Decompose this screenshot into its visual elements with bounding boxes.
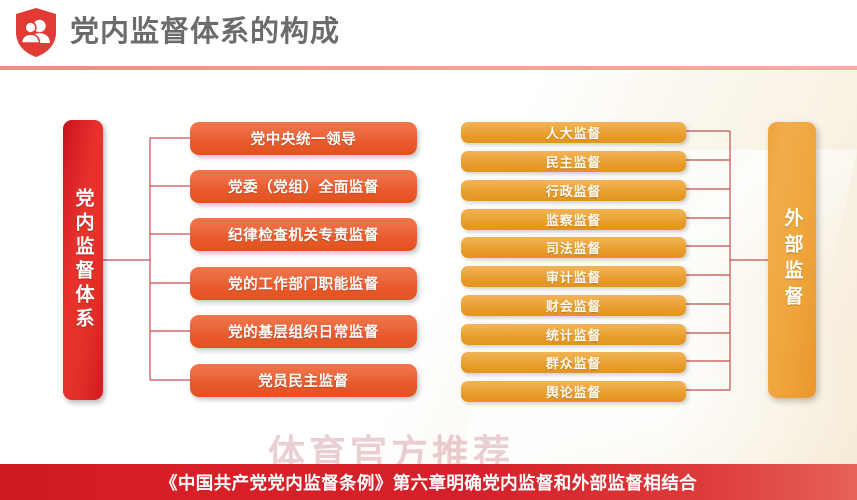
- right-item-3[interactable]: 行政监督: [461, 180, 686, 201]
- right-item-9[interactable]: 群众监督: [461, 352, 686, 373]
- left-item-5[interactable]: 党的基层组织日常监督: [190, 315, 417, 348]
- right-item-6[interactable]: 审计监督: [461, 266, 686, 287]
- right-item-label: 财会监督: [546, 296, 601, 315]
- bottom-banner: 《中国共产党党内监督条例》第六章明确党内监督和外部监督相结合: [0, 464, 857, 500]
- right-item-label: 统计监督: [546, 325, 601, 344]
- left-item-4[interactable]: 党的工作部门职能监督: [190, 267, 417, 300]
- left-item-3[interactable]: 纪律检查机关专责监督: [190, 218, 417, 251]
- left-item-label: 党委（党组）全面监督: [228, 176, 379, 197]
- right-trunk-label: 外部监督: [783, 208, 802, 312]
- right-item-label: 民主监督: [546, 152, 601, 171]
- right-item-label: 司法监督: [546, 238, 601, 257]
- page-title: 党内监督体系的构成: [70, 13, 340, 51]
- right-trunk-external-supervision[interactable]: 外部监督: [768, 122, 816, 398]
- right-item-8[interactable]: 统计监督: [461, 324, 686, 345]
- right-item-10[interactable]: 舆论监督: [461, 381, 686, 402]
- right-item-label: 舆论监督: [546, 382, 601, 401]
- right-item-2[interactable]: 民主监督: [461, 151, 686, 172]
- left-item-label: 党中央统一领导: [251, 128, 357, 149]
- shield-people-icon: [14, 7, 58, 58]
- header-divider: [0, 66, 857, 70]
- right-item-label: 行政监督: [546, 181, 601, 200]
- right-item-5[interactable]: 司法监督: [461, 237, 686, 258]
- left-item-label: 纪律检查机关专责监督: [228, 224, 379, 245]
- left-trunk-inner-supervision[interactable]: 党内监督体系: [63, 120, 103, 400]
- bottom-banner-text: 《中国共产党党内监督条例》第六章明确党内监督和外部监督相结合: [160, 470, 697, 495]
- slide-root: 党内监督体系的构成: [0, 0, 857, 500]
- right-item-label: 监察监督: [546, 210, 601, 229]
- left-trunk-label: 党内监督体系: [74, 188, 93, 332]
- left-item-2[interactable]: 党委（党组）全面监督: [190, 170, 417, 203]
- left-item-label: 党员民主监督: [258, 370, 349, 391]
- right-item-7[interactable]: 财会监督: [461, 295, 686, 316]
- left-item-label: 党的基层组织日常监督: [228, 321, 379, 342]
- left-item-1[interactable]: 党中央统一领导: [190, 122, 417, 155]
- left-item-label: 党的工作部门职能监督: [228, 273, 379, 294]
- right-item-4[interactable]: 监察监督: [461, 209, 686, 230]
- left-item-6[interactable]: 党员民主监督: [190, 364, 417, 397]
- right-item-label: 审计监督: [546, 267, 601, 286]
- right-item-label: 群众监督: [546, 353, 601, 372]
- background-wash: [0, 68, 857, 464]
- slide-header: 党内监督体系的构成: [0, 0, 857, 68]
- right-item-label: 人大监督: [546, 123, 601, 142]
- right-item-1[interactable]: 人大监督: [461, 122, 686, 143]
